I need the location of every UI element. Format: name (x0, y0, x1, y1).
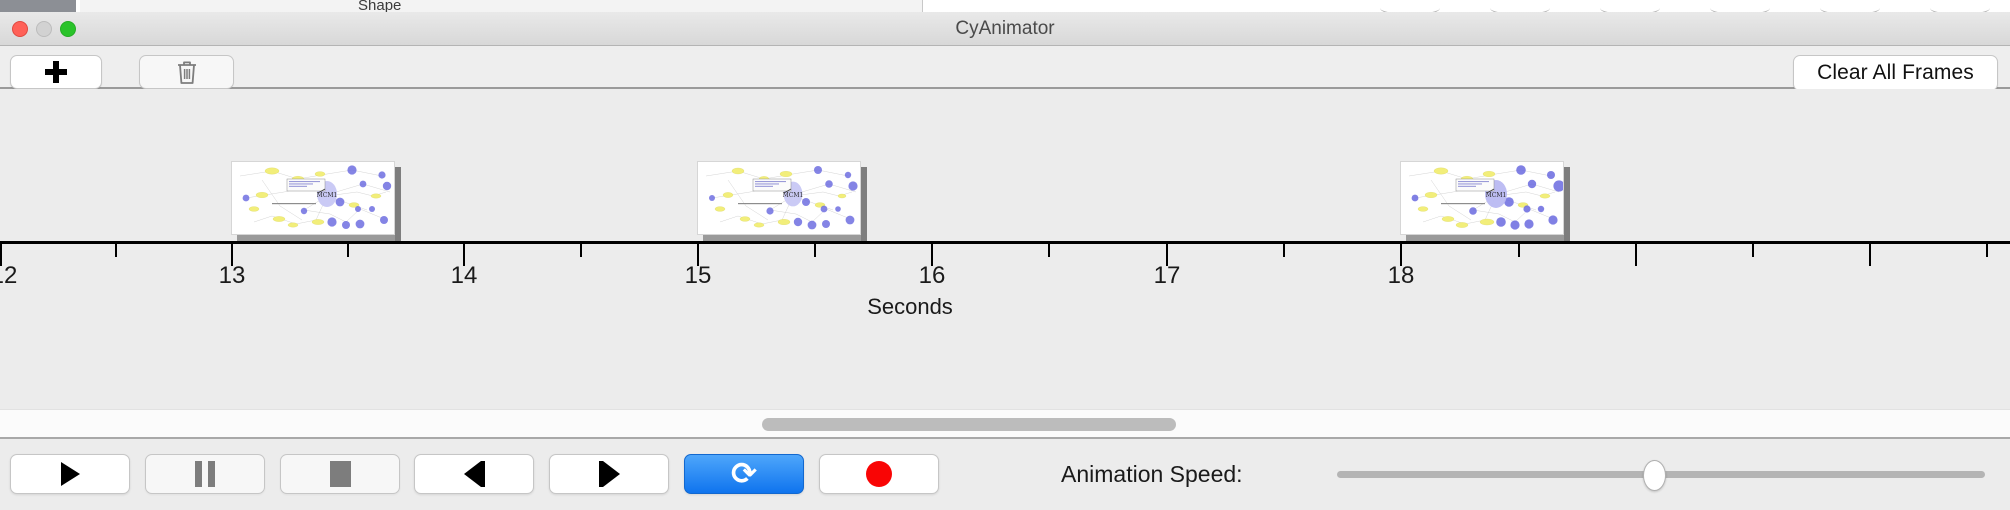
axis-tick-label: 15 (685, 262, 712, 290)
record-icon (866, 461, 892, 487)
network-graph: MCM1 (1401, 162, 1564, 235)
axis-tick-label: 16 (919, 262, 946, 290)
animation-speed-label: Animation Speed: (1061, 454, 1243, 494)
stop-button[interactable] (280, 454, 400, 494)
skip-forward-icon (599, 461, 620, 487)
axis-tick-minor (1283, 244, 1285, 257)
loop-icon: ⟳ (731, 459, 757, 490)
svg-text:MCM1: MCM1 (783, 192, 804, 199)
axis-tick-minor (814, 244, 816, 257)
clear-all-frames-button[interactable]: Clear All Frames (1793, 55, 1998, 91)
axis-title-text: Seconds (867, 294, 953, 319)
frame-network-preview: MCM1 (1400, 161, 1564, 235)
plus-icon (45, 61, 67, 83)
timeline-panel[interactable]: MCM1 (0, 89, 2010, 329)
record-button[interactable] (819, 454, 939, 494)
frame-shadow (395, 167, 401, 241)
svg-text:MCM1: MCM1 (1486, 192, 1507, 199)
network-graph: MCM1 (698, 162, 861, 235)
axis-tick-label: 14 (451, 262, 478, 290)
axis-tick-minor (347, 244, 349, 257)
frame-toolbar: Clear All Frames (0, 46, 2010, 89)
timeline-frame-thumbnail[interactable]: MCM1 (231, 161, 395, 235)
pause-icon (195, 461, 215, 487)
skip-back-icon (464, 461, 485, 487)
playback-control-bar: ⟳ Animation Speed: (0, 441, 2010, 510)
frame-shadow (861, 167, 867, 241)
scrollbar-thumb[interactable] (762, 418, 1176, 431)
window-titlebar: CyAnimator (0, 12, 2010, 46)
frame-network-preview: MCM1 (231, 161, 395, 235)
timeline-frame-thumbnail[interactable]: MCM1 (1400, 161, 1564, 235)
network-graph: MCM1 (232, 162, 395, 235)
loop-button[interactable]: ⟳ (684, 454, 804, 494)
frame-shadow (1564, 167, 1570, 241)
play-icon (61, 462, 80, 486)
axis-tick-minor (1752, 244, 1754, 257)
axis-tick-major (1635, 244, 1637, 266)
timeline-axis-line (0, 241, 2010, 244)
stop-icon (330, 461, 351, 487)
axis-tick-minor (1048, 244, 1050, 257)
axis-tick-label: 13 (219, 262, 246, 290)
axis-tick-major (1869, 244, 1871, 266)
add-frame-button[interactable] (10, 55, 102, 89)
axis-tick-label: 12 (0, 262, 17, 290)
axis-tick-label: 18 (1388, 262, 1415, 290)
play-button[interactable] (10, 454, 130, 494)
animation-speed-slider[interactable] (1337, 454, 1985, 494)
previous-frame-button[interactable] (414, 454, 534, 494)
delete-frame-button[interactable] (139, 55, 234, 89)
axis-tick-minor (1518, 244, 1520, 257)
trash-icon (176, 59, 198, 85)
slider-thumb[interactable] (1643, 460, 1666, 491)
next-frame-button[interactable] (549, 454, 669, 494)
axis-tick-minor (580, 244, 582, 257)
timeline-frame-thumbnail[interactable]: MCM1 (697, 161, 861, 235)
frame-network-preview: MCM1 (697, 161, 861, 235)
timeline-horizontal-scrollbar[interactable] (0, 409, 2010, 439)
axis-tick-minor (1986, 244, 1988, 257)
svg-text:MCM1: MCM1 (317, 192, 338, 199)
cyanimator-window: Shape CyAnimator Clear All Fra (0, 0, 2010, 510)
window-title: CyAnimator (0, 12, 2010, 46)
clear-all-frames-label: Clear All Frames (1817, 61, 1974, 85)
axis-tick-label: 17 (1154, 262, 1181, 290)
axis-tick-minor (115, 244, 117, 257)
pause-button[interactable] (145, 454, 265, 494)
axis-title: Seconds (0, 294, 2010, 320)
